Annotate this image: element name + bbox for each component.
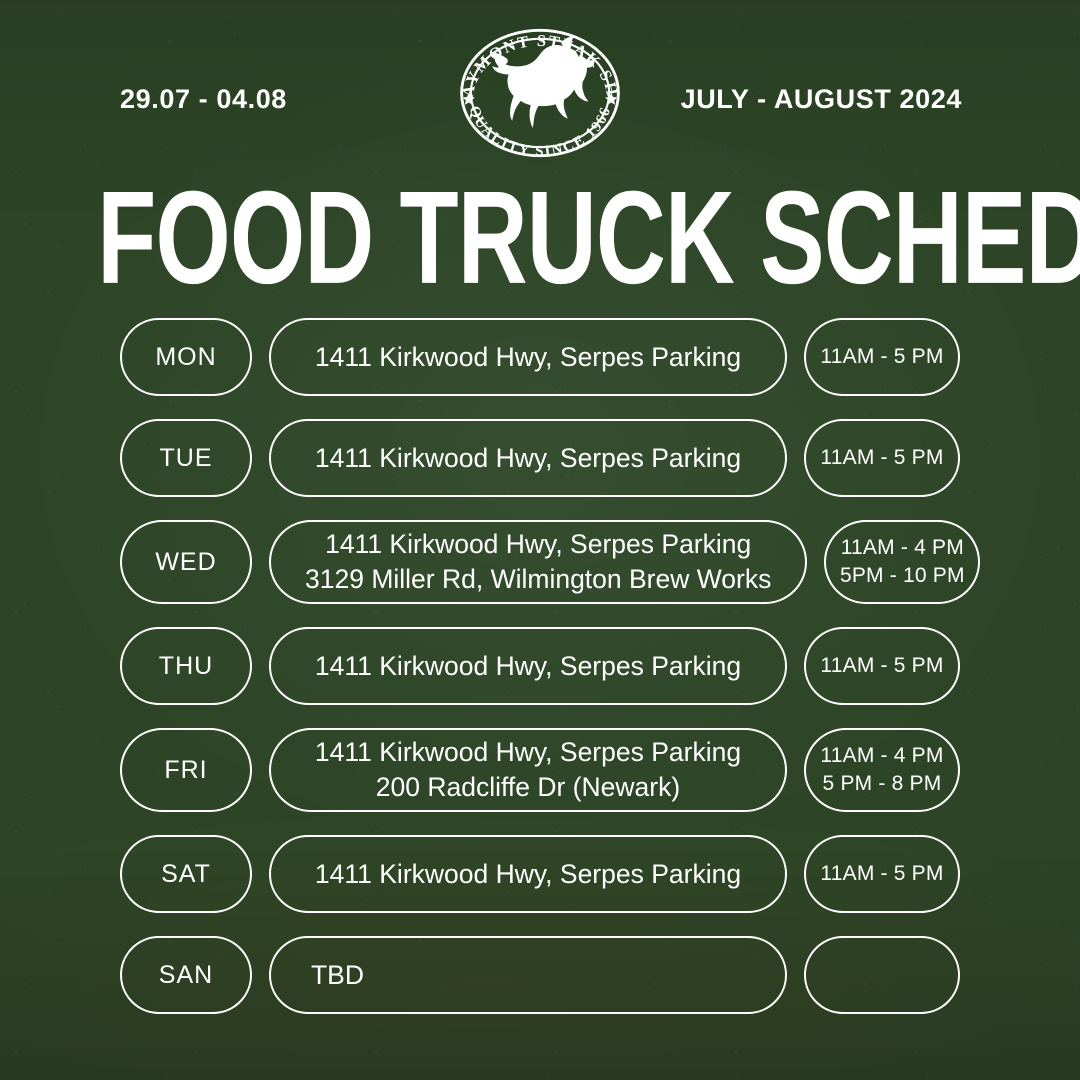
time-line: 5PM - 10 PM	[840, 562, 965, 590]
time-pill[interactable]: 11AM - 5 PM	[804, 318, 960, 396]
time-line: 11AM - 4 PM	[840, 534, 965, 562]
location-line: 1411 Kirkwood Hwy, Serpes Parking	[315, 735, 741, 770]
time-pill[interactable]: 11AM - 5 PM	[804, 835, 960, 913]
time-pill[interactable]: 11AM - 4 PM5 PM - 8 PM	[804, 728, 960, 812]
location-pill[interactable]: 1411 Kirkwood Hwy, Serpes Parking	[269, 627, 787, 705]
day-pill[interactable]: MON	[120, 318, 252, 396]
location-lines: 1411 Kirkwood Hwy, Serpes Parking	[315, 649, 741, 684]
location-pill[interactable]: 1411 Kirkwood Hwy, Serpes Parking3129 Mi…	[269, 520, 807, 604]
claymont-steak-shop-logo: CLAYMONT STEAK SHOP QUALITY SINCE 1966	[447, 26, 633, 160]
day-label: THU	[159, 652, 213, 681]
location-line: 1411 Kirkwood Hwy, Serpes Parking	[315, 649, 741, 684]
day-label: FRI	[164, 756, 207, 785]
location-pill[interactable]: 1411 Kirkwood Hwy, Serpes Parking	[269, 835, 787, 913]
schedule-row: SAT1411 Kirkwood Hwy, Serpes Parking11AM…	[120, 835, 960, 913]
schedule-list: MON1411 Kirkwood Hwy, Serpes Parking11AM…	[120, 318, 960, 1037]
schedule-row: FRI1411 Kirkwood Hwy, Serpes Parking200 …	[120, 728, 960, 812]
schedule-row: THU1411 Kirkwood Hwy, Serpes Parking11AM…	[120, 627, 960, 705]
time-line: 11AM - 5 PM	[820, 652, 943, 680]
location-lines: TBD	[311, 958, 364, 993]
time-line: 11AM - 5 PM	[820, 444, 943, 472]
time-lines: 11AM - 5 PM	[820, 444, 943, 472]
time-pill[interactable]: 11AM - 4 PM5PM - 10 PM	[824, 520, 980, 604]
time-line: 11AM - 5 PM	[820, 860, 943, 888]
day-label: TUE	[160, 444, 213, 473]
day-pill[interactable]: SAN	[120, 936, 252, 1014]
time-pill[interactable]: 11AM - 5 PM	[804, 627, 960, 705]
day-label: SAN	[159, 961, 213, 990]
month-range-label: JULY - AUGUST 2024	[681, 84, 962, 115]
location-line: 1411 Kirkwood Hwy, Serpes Parking	[315, 857, 741, 892]
date-range-label: 29.07 - 04.08	[120, 84, 287, 115]
location-lines: 1411 Kirkwood Hwy, Serpes Parking3129 Mi…	[305, 527, 771, 597]
location-line: TBD	[311, 958, 364, 993]
day-label: MON	[155, 343, 216, 372]
location-lines: 1411 Kirkwood Hwy, Serpes Parking	[315, 857, 741, 892]
schedule-row: SANTBD	[120, 936, 960, 1014]
day-pill[interactable]: THU	[120, 627, 252, 705]
time-line: 11AM - 5 PM	[820, 343, 943, 371]
location-line: 1411 Kirkwood Hwy, Serpes Parking	[305, 527, 771, 562]
time-lines: 11AM - 5 PM	[820, 343, 943, 371]
time-lines: 11AM - 4 PM5 PM - 8 PM	[820, 742, 943, 798]
day-pill[interactable]: WED	[120, 520, 252, 604]
time-line: 5 PM - 8 PM	[820, 770, 943, 798]
time-pill[interactable]	[804, 936, 960, 1014]
schedule-row: MON1411 Kirkwood Hwy, Serpes Parking11AM…	[120, 318, 960, 396]
poster-header: 29.07 - 04.08 CLAYMONT STEAK SHOP QUALIT…	[0, 0, 1080, 176]
location-pill[interactable]: 1411 Kirkwood Hwy, Serpes Parking	[269, 419, 787, 497]
location-lines: 1411 Kirkwood Hwy, Serpes Parking200 Rad…	[315, 735, 741, 805]
schedule-row: TUE1411 Kirkwood Hwy, Serpes Parking11AM…	[120, 419, 960, 497]
location-pill[interactable]: 1411 Kirkwood Hwy, Serpes Parking	[269, 318, 787, 396]
day-label: WED	[155, 548, 216, 577]
svg-text:QUALITY SINCE 1966: QUALITY SINCE 1966	[465, 104, 614, 160]
time-lines: 11AM - 5 PM	[820, 860, 943, 888]
location-lines: 1411 Kirkwood Hwy, Serpes Parking	[315, 441, 741, 476]
time-lines: 11AM - 5 PM	[820, 652, 943, 680]
location-pill[interactable]: 1411 Kirkwood Hwy, Serpes Parking200 Rad…	[269, 728, 787, 812]
page-title: FOOD TRUCK SCHEDULE	[97, 172, 983, 304]
location-line: 200 Radcliffe Dr (Newark)	[315, 770, 741, 805]
time-pill[interactable]: 11AM - 5 PM	[804, 419, 960, 497]
day-pill[interactable]: FRI	[120, 728, 252, 812]
location-line: 3129 Miller Rd, Wilmington Brew Works	[305, 562, 771, 597]
location-line: 1411 Kirkwood Hwy, Serpes Parking	[315, 340, 741, 375]
day-label: SAT	[161, 860, 211, 889]
time-lines: 11AM - 4 PM5PM - 10 PM	[840, 534, 965, 590]
location-line: 1411 Kirkwood Hwy, Serpes Parking	[315, 441, 741, 476]
day-pill[interactable]: TUE	[120, 419, 252, 497]
location-pill[interactable]: TBD	[269, 936, 787, 1014]
location-lines: 1411 Kirkwood Hwy, Serpes Parking	[315, 340, 741, 375]
schedule-row: WED1411 Kirkwood Hwy, Serpes Parking3129…	[120, 520, 960, 604]
time-line: 11AM - 4 PM	[820, 742, 943, 770]
day-pill[interactable]: SAT	[120, 835, 252, 913]
food-truck-schedule-poster: 29.07 - 04.08 CLAYMONT STEAK SHOP QUALIT…	[0, 0, 1080, 1080]
